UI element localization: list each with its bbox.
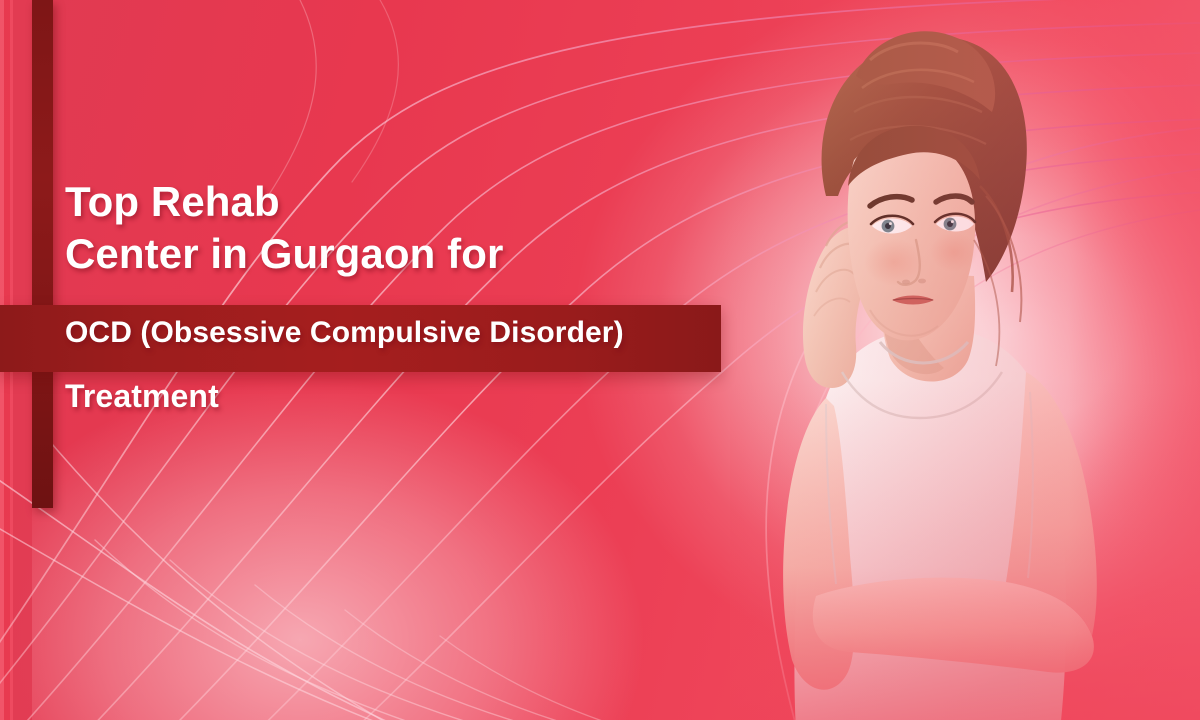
banner-root: Top Rehab Center in Gurgaon for OCD (Obs… [0,0,1200,720]
headline-block: Top Rehab Center in Gurgaon for OCD (Obs… [65,176,765,280]
headline-line-1: Top Rehab [65,176,765,228]
woman-photo [730,0,1200,720]
headline-line-4-treatment: Treatment [65,375,219,417]
headline-line-2: Center in Gurgaon for [65,228,765,280]
headline-line-3-ocd: OCD (Obsessive Compulsive Disorder) [65,312,624,354]
vertical-accent-bar [32,0,53,508]
